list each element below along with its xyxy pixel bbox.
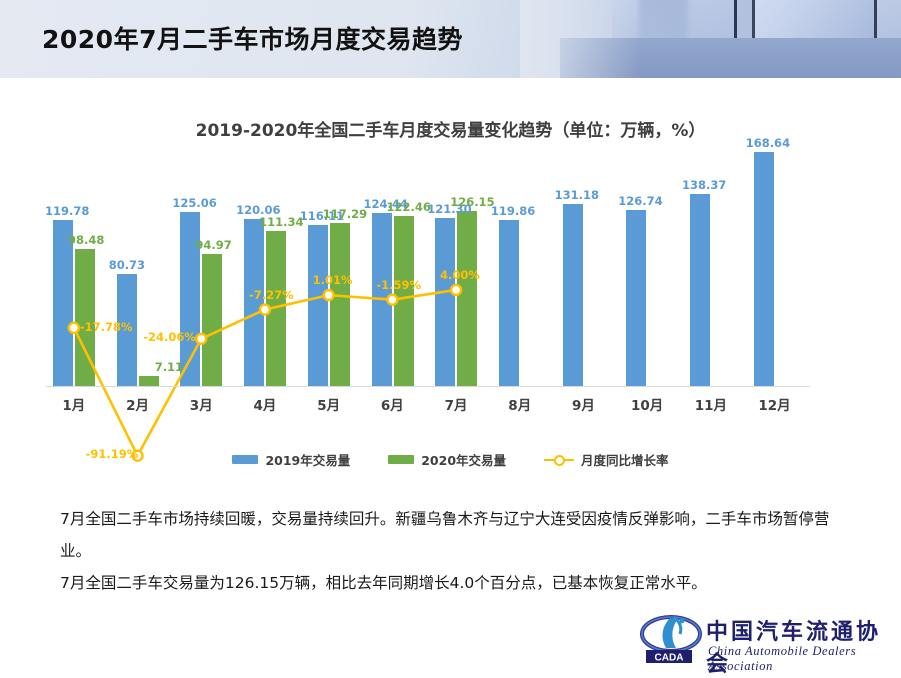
page-header: 2020年7月二手车市场月度交易趋势 xyxy=(0,0,901,78)
bar-label-2019-1月: 119.78 xyxy=(45,204,89,218)
chart-legend: 2019年交易量 2020年交易量 月度同比增长率 xyxy=(0,450,901,469)
x-tick-2月: 2月 xyxy=(110,394,166,414)
bar-label-2020-1月: 98.48 xyxy=(68,233,104,247)
growth-rate-label-3月: -24.06% xyxy=(143,330,196,344)
bar-label-2020-6月: 122.46 xyxy=(387,200,431,214)
commentary-paragraph-2: 7月全国二手车交易量为126.15万辆，相比去年同期增长4.0个百分点，已基本恢… xyxy=(60,567,860,599)
legend-line-marker-icon xyxy=(544,454,574,466)
legend-label-2020: 2020年交易量 xyxy=(421,450,506,469)
legend-swatch-2019-icon xyxy=(232,455,258,464)
header-gradient-fade xyxy=(520,0,640,78)
legend-item-growth-rate[interactable]: 月度同比增长率 xyxy=(544,450,669,469)
bar-label-2019-2月: 80.73 xyxy=(109,258,145,272)
chart-plot-area: 119.7898.4880.737.11125.0694.97120.06111… xyxy=(0,86,901,416)
bar-label-2019-11月: 138.37 xyxy=(682,178,726,192)
bar-label-2019-3月: 125.06 xyxy=(172,196,216,210)
growth-rate-label-4月: -7.27% xyxy=(249,288,294,302)
growth-rate-point-6月 xyxy=(387,295,397,305)
cada-logo: CADA 中国汽车流通协会 China Automobile Dealers A… xyxy=(640,612,890,670)
bar-label-2019-12月: 168.64 xyxy=(746,136,790,150)
page-title: 2020年7月二手车市场月度交易趋势 xyxy=(42,20,463,56)
bar-label-2019-9月: 131.18 xyxy=(555,188,599,202)
x-tick-9月: 9月 xyxy=(555,394,611,414)
x-tick-11月: 11月 xyxy=(683,394,739,414)
growth-rate-label-5月: 1.01% xyxy=(313,273,353,287)
svg-text:CADA: CADA xyxy=(655,653,684,664)
legend-label-growth-rate: 月度同比增长率 xyxy=(581,450,669,469)
legend-item-2020[interactable]: 2020年交易量 xyxy=(388,450,506,469)
legend-item-2019[interactable]: 2019年交易量 xyxy=(232,450,350,469)
growth-rate-label-1月: -17.78% xyxy=(80,320,133,334)
bar-label-2020-7月: 126.15 xyxy=(450,195,494,209)
growth-rate-label-7月: 4.00% xyxy=(440,268,480,282)
x-tick-1月: 1月 xyxy=(46,394,102,414)
x-tick-12月: 12月 xyxy=(747,394,803,414)
growth-rate-point-3月 xyxy=(196,334,206,344)
growth-rate-label-6月: -1.59% xyxy=(376,278,421,292)
legend-label-2019: 2019年交易量 xyxy=(265,450,350,469)
commentary-text: 7月全国二手车市场持续回暖，交易量持续回升。新疆乌鲁木齐与辽宁大连受因疫情反弹影… xyxy=(60,503,860,599)
growth-rate-point-4月 xyxy=(260,305,270,315)
chart-container: 2019-2020年全国二手车月度交易量变化趋势（单位：万辆，%） 119.78… xyxy=(0,86,901,486)
growth-rate-point-7月 xyxy=(451,285,461,295)
bar-label-2019-10月: 126.74 xyxy=(618,194,662,208)
growth-rate-point-5月 xyxy=(324,290,334,300)
commentary-paragraph-1: 7月全国二手车市场持续回暖，交易量持续回升。新疆乌鲁木齐与辽宁大连受因疫情反弹影… xyxy=(60,503,860,567)
bar-label-2019-8月: 119.86 xyxy=(491,204,535,218)
x-tick-8月: 8月 xyxy=(492,394,548,414)
bar-label-2020-4月: 111.34 xyxy=(259,215,303,229)
growth-rate-point-1月 xyxy=(69,323,79,333)
x-axis-line xyxy=(46,386,810,387)
x-tick-10月: 10月 xyxy=(619,394,675,414)
legend-swatch-2020-icon xyxy=(388,455,414,464)
x-tick-3月: 3月 xyxy=(173,394,229,414)
cada-emblem-icon: CADA xyxy=(640,614,702,664)
bar-label-2020-2月: 7.11 xyxy=(155,360,183,374)
bar-label-2020-5月: 117.29 xyxy=(323,207,367,221)
bar-label-2020-3月: 94.97 xyxy=(195,238,231,252)
x-tick-6月: 6月 xyxy=(364,394,420,414)
x-tick-7月: 7月 xyxy=(428,394,484,414)
x-tick-5月: 5月 xyxy=(301,394,357,414)
x-tick-4月: 4月 xyxy=(237,394,293,414)
logo-name-en: China Automobile Dealers Association xyxy=(708,644,890,674)
